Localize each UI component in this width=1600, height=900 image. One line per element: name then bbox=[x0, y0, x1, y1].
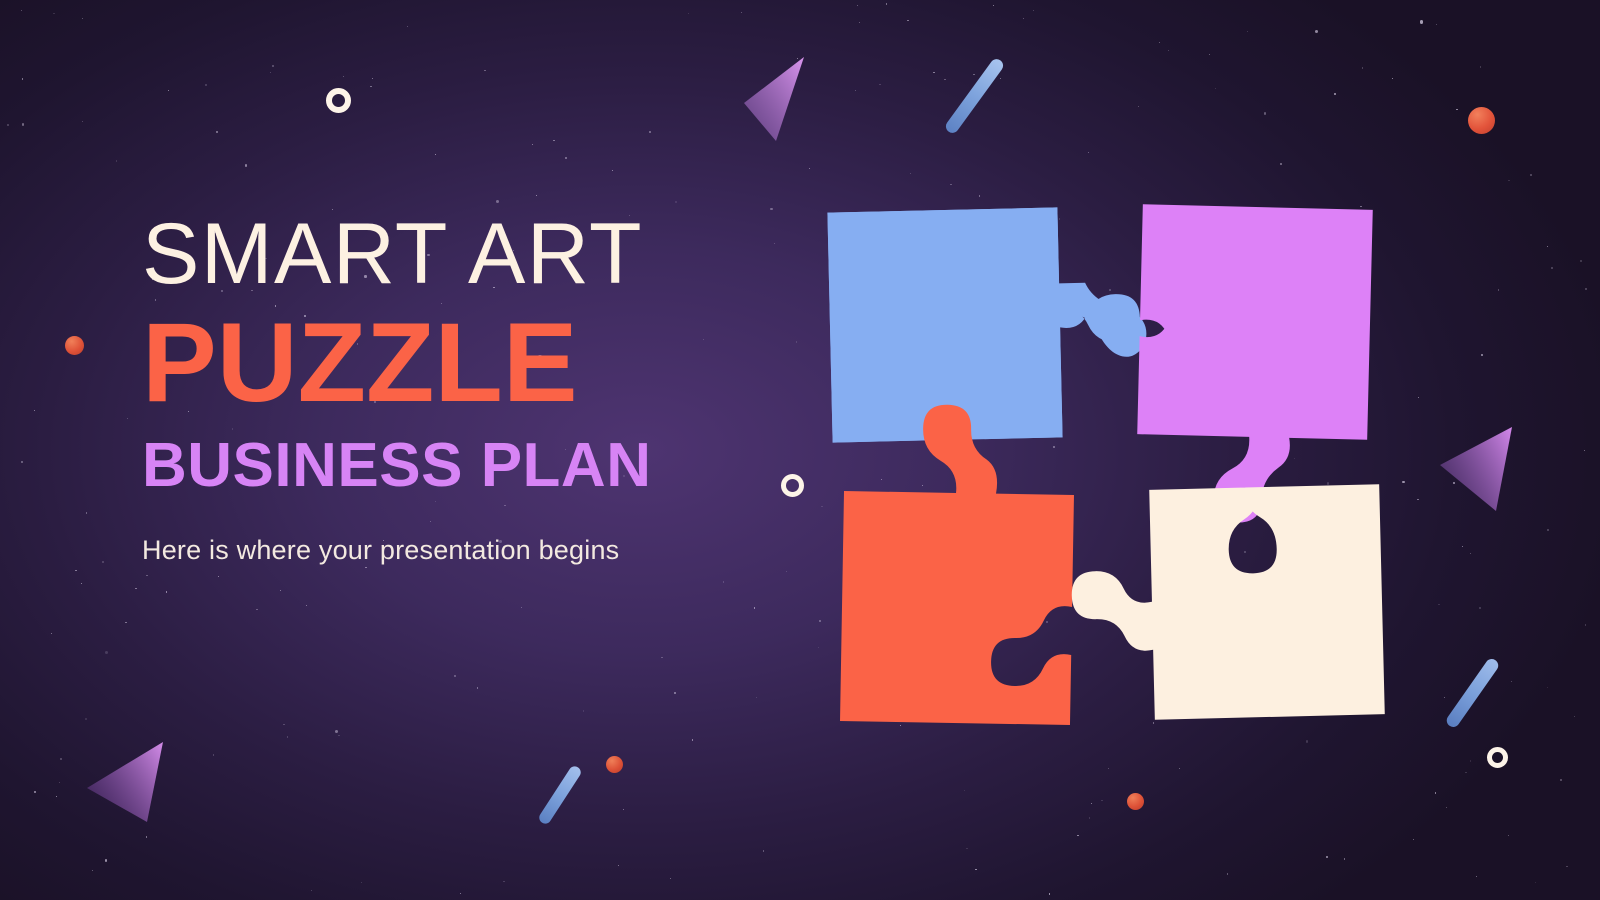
star-dot bbox=[102, 561, 104, 563]
star-dot bbox=[1547, 687, 1548, 688]
sphere-top-right-icon bbox=[1468, 107, 1495, 134]
star-dot bbox=[1334, 93, 1336, 95]
star-dot bbox=[859, 22, 860, 23]
star-dot bbox=[1580, 260, 1582, 262]
star-dot bbox=[311, 890, 312, 891]
star-dot bbox=[343, 76, 344, 77]
star-dot bbox=[1089, 817, 1090, 818]
star-dot bbox=[966, 848, 967, 849]
star-dot bbox=[661, 657, 662, 658]
star-dot bbox=[532, 144, 533, 145]
star-dot bbox=[944, 79, 945, 80]
star-dot bbox=[51, 633, 52, 634]
star-dot bbox=[1508, 835, 1509, 836]
star-dot bbox=[7, 124, 9, 126]
star-dot bbox=[763, 850, 764, 851]
star-dot bbox=[59, 782, 60, 783]
sphere-left-icon bbox=[65, 336, 84, 355]
star-dot bbox=[372, 78, 373, 79]
star-dot bbox=[205, 84, 206, 85]
ring-bottom-right-icon bbox=[1487, 747, 1508, 768]
star-dot bbox=[1547, 246, 1548, 247]
star-dot bbox=[674, 692, 676, 694]
star-dot bbox=[649, 131, 651, 133]
star-dot bbox=[1247, 31, 1248, 32]
star-dot bbox=[612, 170, 613, 171]
star-dot bbox=[675, 201, 677, 203]
star-dot bbox=[1413, 839, 1414, 840]
star-dot bbox=[786, 571, 787, 572]
title-slide: SMART ART PUZZLE BUSINESS PLAN Here is w… bbox=[0, 0, 1600, 900]
star-dot bbox=[1280, 163, 1282, 165]
star-dot bbox=[85, 718, 87, 720]
star-dot bbox=[770, 208, 772, 210]
star-dot bbox=[993, 5, 994, 6]
star-dot bbox=[34, 410, 35, 411]
ring-top-left-icon bbox=[326, 88, 351, 113]
page-title-line-1: SMART ART bbox=[142, 212, 782, 296]
star-dot bbox=[60, 758, 62, 760]
star-dot bbox=[338, 735, 339, 736]
star-dot bbox=[1530, 174, 1532, 176]
star-dot bbox=[907, 20, 908, 21]
star-dot bbox=[1470, 760, 1471, 761]
star-dot bbox=[105, 651, 108, 654]
title-text-block: SMART ART PUZZLE BUSINESS PLAN Here is w… bbox=[142, 212, 782, 566]
star-dot bbox=[22, 78, 23, 79]
star-dot bbox=[1456, 109, 1457, 110]
puzzle-illustration bbox=[790, 175, 1430, 775]
star-dot bbox=[1444, 697, 1445, 698]
star-dot bbox=[287, 736, 288, 737]
page-title-line-2: PUZZLE bbox=[142, 306, 782, 420]
star-dot bbox=[1479, 607, 1481, 609]
star-dot bbox=[82, 18, 83, 19]
star-dot bbox=[670, 878, 671, 879]
star-dot bbox=[1088, 152, 1089, 153]
page-title-line-3: BUSINESS PLAN bbox=[142, 435, 782, 497]
star-dot bbox=[521, 607, 522, 608]
star-dot bbox=[270, 72, 271, 73]
star-dot bbox=[1470, 553, 1471, 554]
star-dot bbox=[75, 570, 76, 571]
star-dot bbox=[280, 590, 281, 591]
star-dot bbox=[245, 164, 247, 166]
star-dot bbox=[1535, 882, 1536, 883]
star-dot bbox=[1326, 856, 1328, 858]
star-dot bbox=[855, 90, 856, 91]
sphere-bottom-center-icon bbox=[606, 756, 623, 773]
star-dot bbox=[454, 675, 455, 676]
star-dot bbox=[1215, 88, 1216, 89]
star-dot bbox=[82, 121, 83, 122]
star-dot bbox=[218, 576, 219, 577]
star-dot bbox=[256, 609, 257, 610]
star-dot bbox=[146, 575, 147, 576]
star-dot bbox=[21, 10, 22, 11]
star-dot bbox=[886, 3, 887, 4]
star-dot bbox=[407, 26, 408, 27]
puzzle-piece-top-right bbox=[1135, 204, 1373, 526]
star-dot bbox=[135, 588, 136, 589]
star-dot bbox=[166, 591, 167, 592]
star-dot bbox=[1438, 604, 1439, 605]
star-dot bbox=[168, 90, 169, 91]
star-dot bbox=[964, 790, 965, 791]
star-dot bbox=[553, 140, 554, 141]
star-dot bbox=[1227, 873, 1228, 874]
page-subtitle: Here is where your presentation begins bbox=[142, 535, 782, 566]
star-dot bbox=[460, 893, 461, 894]
star-dot bbox=[1159, 42, 1160, 43]
star-dot bbox=[127, 418, 128, 419]
star-dot bbox=[56, 796, 57, 797]
star-dot bbox=[34, 791, 35, 792]
star-dot bbox=[272, 65, 274, 67]
star-dot bbox=[1091, 803, 1092, 804]
star-dot bbox=[1584, 450, 1585, 451]
star-dot bbox=[1511, 681, 1512, 682]
star-dot bbox=[283, 724, 284, 725]
star-dot bbox=[973, 74, 974, 75]
star-dot bbox=[306, 605, 307, 606]
star-dot bbox=[1392, 78, 1393, 79]
star-dot bbox=[1446, 807, 1447, 808]
star-dot bbox=[1000, 78, 1001, 79]
star-dot bbox=[365, 567, 366, 568]
star-dot bbox=[503, 881, 504, 882]
star-dot bbox=[1560, 779, 1562, 781]
star-dot bbox=[92, 870, 93, 871]
star-dot bbox=[435, 154, 436, 155]
star-dot bbox=[1420, 20, 1423, 23]
star-dot bbox=[1435, 792, 1436, 793]
star-dot bbox=[1498, 289, 1499, 290]
star-dot bbox=[335, 730, 338, 733]
star-dot bbox=[1101, 800, 1102, 801]
star-dot bbox=[809, 168, 810, 169]
sphere-bottom-right-icon bbox=[1127, 793, 1144, 810]
star-dot bbox=[692, 739, 693, 740]
star-dot bbox=[484, 70, 485, 71]
star-dot bbox=[496, 200, 499, 203]
star-dot bbox=[754, 607, 755, 608]
star-dot bbox=[1566, 866, 1567, 867]
star-dot bbox=[1585, 288, 1586, 289]
streak-bottom-left-icon bbox=[537, 764, 583, 826]
star-dot bbox=[53, 13, 54, 14]
star-dot bbox=[1362, 67, 1363, 68]
star-dot bbox=[1077, 835, 1078, 836]
star-dot bbox=[1508, 180, 1509, 181]
star-dot bbox=[565, 157, 567, 159]
puzzle-piece-top-left bbox=[827, 205, 1148, 442]
star-dot bbox=[933, 72, 934, 73]
star-dot bbox=[361, 882, 362, 883]
star-dot bbox=[22, 123, 24, 125]
star-dot bbox=[1138, 106, 1139, 107]
star-dot bbox=[623, 809, 624, 810]
star-dot bbox=[1465, 772, 1466, 773]
star-dot bbox=[756, 697, 757, 698]
star-dot bbox=[723, 581, 724, 582]
star-dot bbox=[1462, 546, 1463, 547]
star-dot bbox=[1481, 354, 1483, 356]
star-dot bbox=[741, 12, 742, 13]
star-dot bbox=[86, 512, 87, 513]
streak-bottom-right-icon bbox=[1444, 657, 1501, 730]
star-dot bbox=[125, 622, 126, 623]
star-dot bbox=[1168, 50, 1169, 51]
star-dot bbox=[1049, 893, 1050, 894]
star-dot bbox=[81, 583, 82, 584]
star-dot bbox=[1264, 112, 1266, 114]
star-dot bbox=[1209, 54, 1210, 55]
star-dot bbox=[477, 687, 478, 688]
star-dot bbox=[1476, 876, 1477, 877]
star-dot bbox=[213, 754, 214, 755]
star-dot bbox=[1344, 858, 1345, 859]
star-dot bbox=[370, 86, 371, 87]
star-dot bbox=[1574, 716, 1575, 717]
star-dot bbox=[1551, 267, 1553, 269]
star-dot bbox=[583, 710, 584, 711]
star-dot bbox=[618, 865, 619, 866]
star-dot bbox=[536, 195, 537, 196]
puzzle-piece-bottom-left bbox=[840, 403, 1076, 725]
star-dot bbox=[21, 461, 22, 462]
star-dot bbox=[857, 5, 858, 6]
star-dot bbox=[1033, 10, 1034, 11]
star-dot bbox=[1436, 24, 1437, 25]
star-dot bbox=[1023, 18, 1024, 19]
puzzle-piece-bottom-right bbox=[1069, 484, 1385, 722]
star-dot bbox=[216, 131, 217, 132]
star-dot bbox=[975, 869, 976, 870]
star-dot bbox=[1585, 624, 1586, 625]
star-dot bbox=[879, 84, 880, 85]
streak-top-icon bbox=[943, 57, 1005, 136]
star-dot bbox=[1480, 66, 1481, 67]
star-dot bbox=[116, 160, 117, 161]
star-dot bbox=[688, 13, 689, 14]
star-dot bbox=[1315, 30, 1318, 33]
